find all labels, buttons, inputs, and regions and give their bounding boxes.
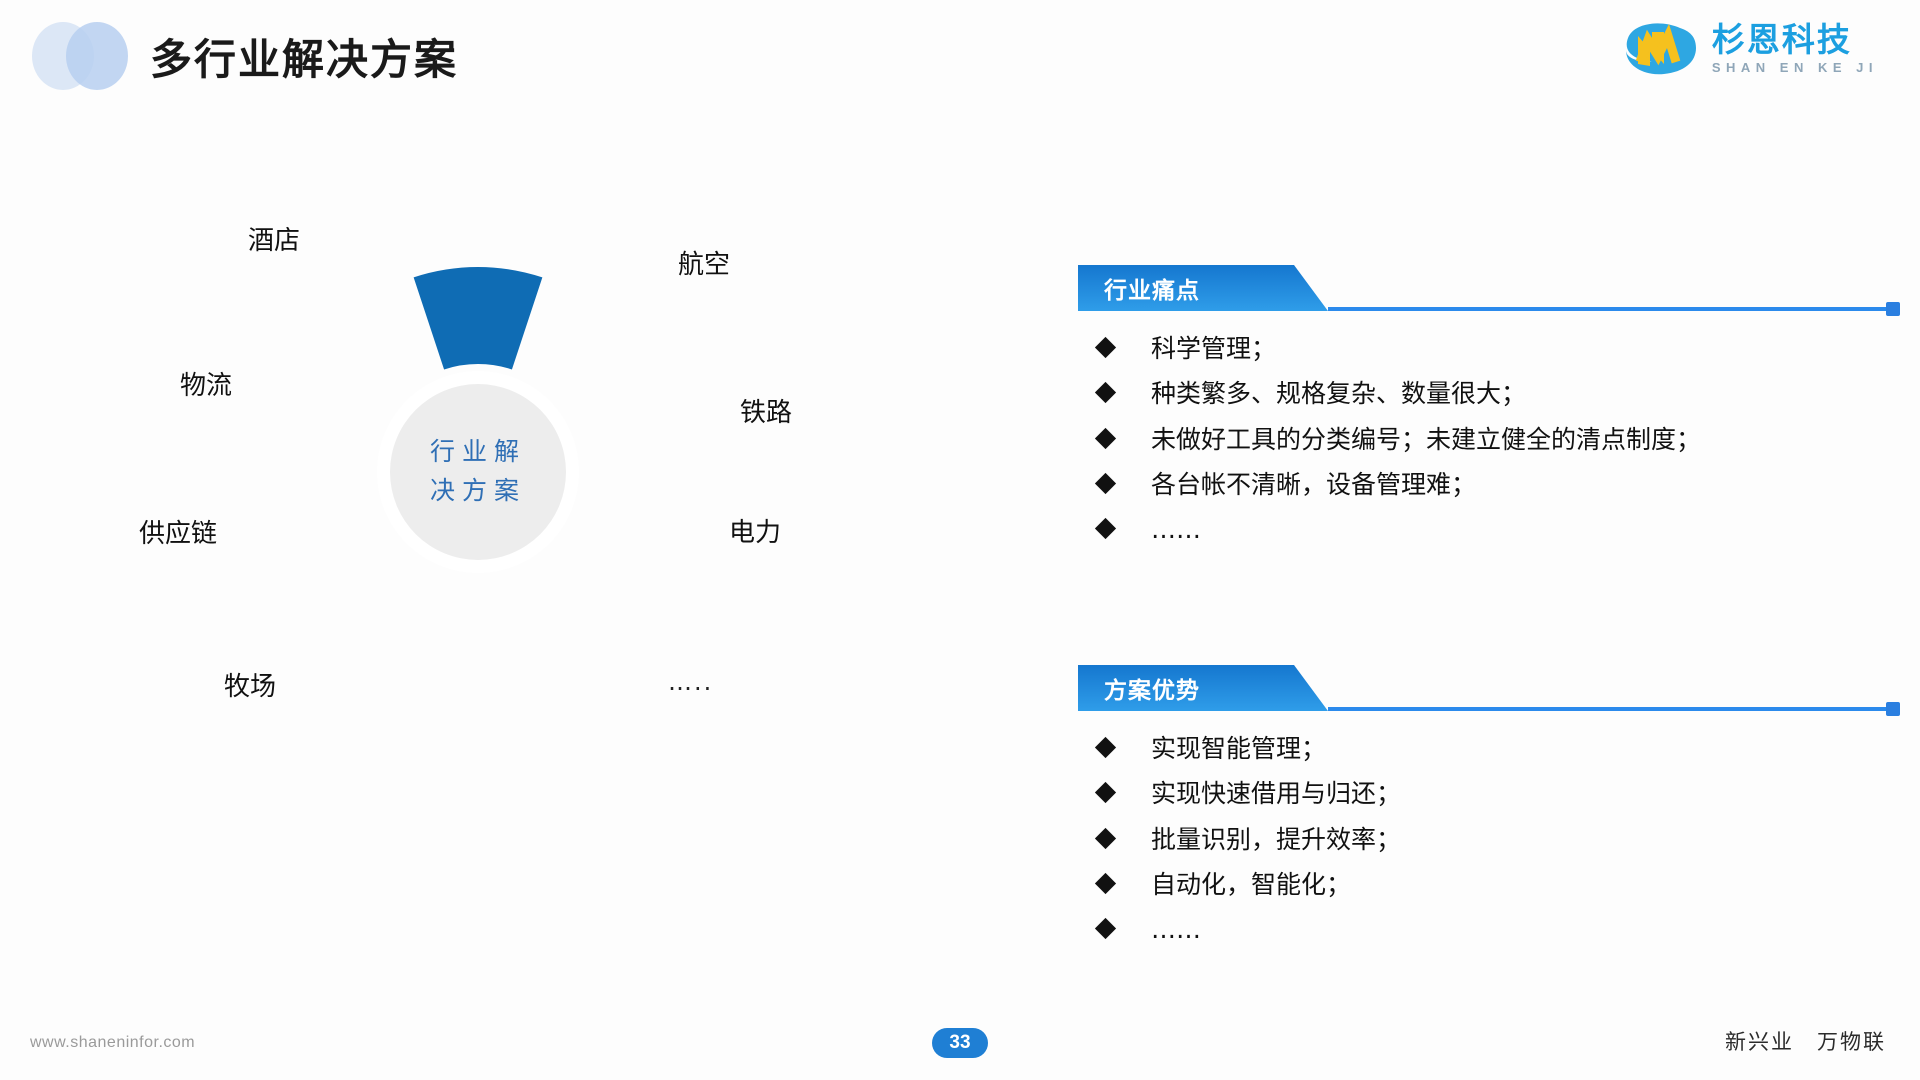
panel-header: 方案优势	[1078, 665, 1898, 711]
wheel-label-more: …..	[668, 668, 713, 696]
list-item: 自动化，智能化；	[1098, 869, 1898, 900]
list-item: 各台帐不清晰，设备管理难；	[1098, 469, 1898, 500]
decoration-circle-right	[66, 22, 128, 90]
panel-bullet-list: 科学管理； 种类繁多、规格复杂、数量很大； 未做好工具的分类编号；未建立健全的清…	[1078, 333, 1898, 545]
list-item: 科学管理；	[1098, 333, 1898, 364]
bullet-text: ……	[1151, 914, 1201, 945]
footer-slogan: 新兴业 万物联	[1725, 1026, 1886, 1056]
panel-rule-end-marker	[1886, 702, 1900, 716]
panel-tab: 行业痛点	[1078, 265, 1328, 311]
diamond-bullet-icon	[1095, 918, 1116, 939]
footer-website-url[interactable]: www.shaneninfor.com	[30, 1034, 195, 1052]
wheel-connectors	[60, 230, 1060, 1080]
list-item: ……	[1098, 514, 1898, 545]
panel-rule	[1328, 307, 1898, 311]
wheel-label-hotel: 酒店	[248, 220, 300, 257]
panel-tab: 方案优势	[1078, 665, 1328, 711]
panel-rule-end-marker	[1886, 302, 1900, 316]
brand-mark-icon	[1618, 18, 1702, 80]
panel-bullet-list: 实现智能管理； 实现快速借用与归还； 批量识别，提升效率； 自动化，智能化； ……	[1078, 733, 1898, 945]
diamond-bullet-icon	[1095, 382, 1116, 403]
bullet-text: 各台帐不清晰，设备管理难；	[1151, 469, 1476, 500]
wheel-label-supplychain: 供应链	[139, 513, 217, 550]
wheel-label-ranch: 牧场	[224, 666, 276, 703]
diamond-bullet-icon	[1095, 473, 1116, 494]
wheel-label-railway: 铁路	[740, 392, 792, 429]
diamond-bullet-icon	[1095, 782, 1116, 803]
wheel-label-power: 电力	[729, 512, 781, 549]
wheel-label-aviation: 航空	[678, 244, 730, 281]
diamond-bullet-icon	[1095, 337, 1116, 358]
brand-name-cn: 杉恩科技	[1712, 23, 1878, 58]
list-item: 实现快速借用与归还；	[1098, 778, 1898, 809]
bullet-text: 实现智能管理；	[1151, 733, 1326, 764]
wheel-label-logistics: 物流	[180, 365, 232, 402]
page-number-badge: 33	[932, 1028, 988, 1058]
panel-industry-pain-points: 行业痛点 科学管理； 种类繁多、规格复杂、数量很大； 未做好工具的分类编号；未建…	[1078, 265, 1898, 559]
list-item: 未做好工具的分类编号；未建立健全的清点制度；	[1098, 424, 1898, 455]
bullet-text: 科学管理；	[1151, 333, 1276, 364]
diamond-bullet-icon	[1095, 873, 1116, 894]
bullet-text: 未做好工具的分类编号；未建立健全的清点制度；	[1151, 424, 1701, 455]
list-item: 种类繁多、规格复杂、数量很大；	[1098, 378, 1898, 409]
panel-header: 行业痛点	[1078, 265, 1898, 311]
bullet-text: 种类繁多、规格复杂、数量很大；	[1151, 378, 1526, 409]
bullet-text: ……	[1151, 514, 1201, 545]
list-item: ……	[1098, 914, 1898, 945]
brand-name-en: SHAN EN KE JI	[1712, 60, 1878, 75]
panel-title: 行业痛点	[1104, 271, 1200, 305]
panel-rule	[1328, 707, 1898, 711]
list-item: 批量识别，提升效率；	[1098, 824, 1898, 855]
bullet-text: 实现快速借用与归还；	[1151, 778, 1401, 809]
diamond-bullet-icon	[1095, 518, 1116, 539]
page-title: 多行业解决方案	[150, 26, 458, 87]
panel-solution-advantages: 方案优势 实现智能管理； 实现快速借用与归还； 批量识别，提升效率； 自动化，智…	[1078, 665, 1898, 959]
diamond-bullet-icon	[1095, 737, 1116, 758]
bullet-text: 批量识别，提升效率；	[1151, 824, 1401, 855]
diamond-bullet-icon	[1095, 827, 1116, 848]
bullet-text: 自动化，智能化；	[1151, 869, 1351, 900]
list-item: 实现智能管理；	[1098, 733, 1898, 764]
slide-root: 多行业解决方案 杉恩科技 SHAN EN KE JI 行业解 决方案	[0, 0, 1920, 1080]
brand-logo: 杉恩科技 SHAN EN KE JI	[1618, 18, 1878, 80]
diamond-bullet-icon	[1095, 427, 1116, 448]
panel-title: 方案优势	[1104, 671, 1200, 705]
title-decoration-circles	[32, 22, 128, 90]
